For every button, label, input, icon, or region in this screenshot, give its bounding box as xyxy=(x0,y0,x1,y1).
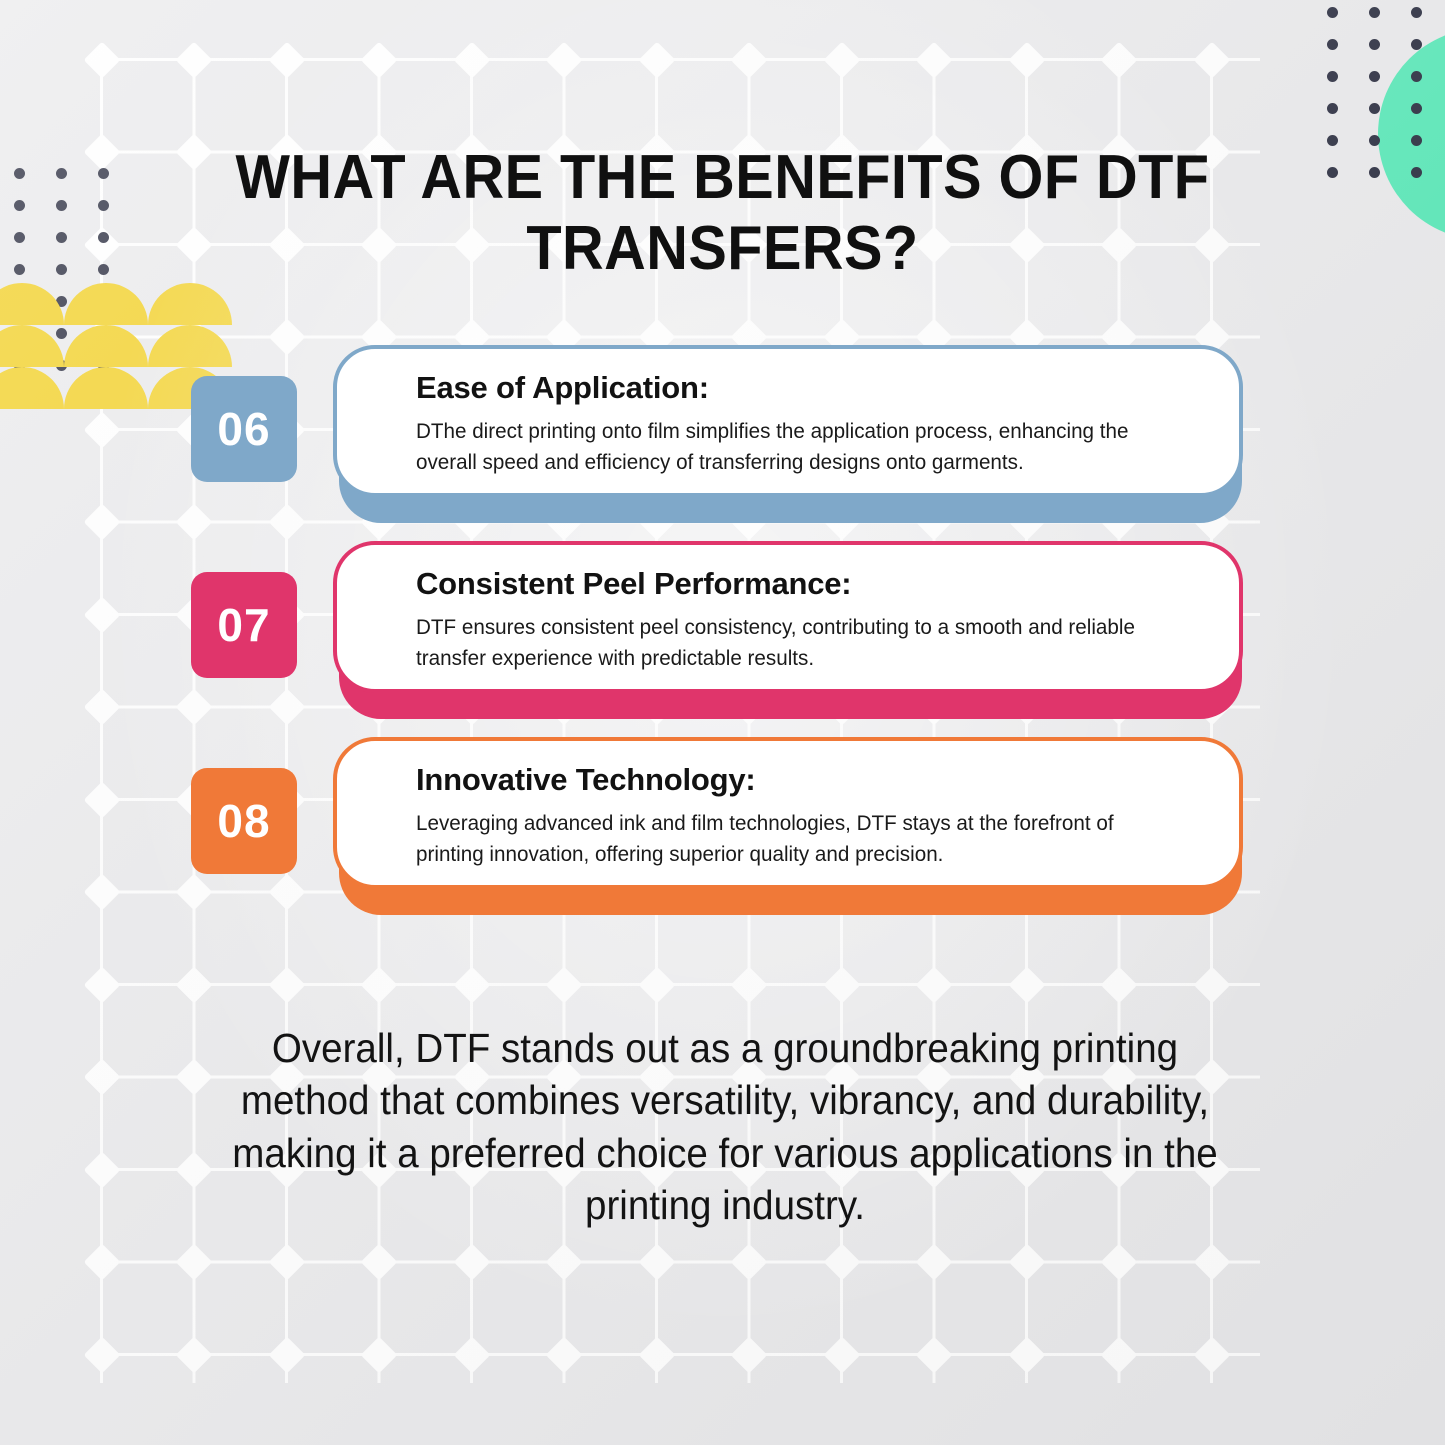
grid-diamond xyxy=(1101,1244,1138,1281)
grid-diamond xyxy=(361,966,398,1003)
summary-paragraph: Overall, DTF stands out as a groundbreak… xyxy=(203,1022,1246,1232)
decorative-dot xyxy=(56,264,67,275)
grid-diamond xyxy=(453,966,490,1003)
decorative-dot xyxy=(14,200,25,211)
grid-diamond xyxy=(1193,41,1230,78)
decorative-dot xyxy=(1327,7,1338,18)
grid-diamond xyxy=(916,1244,953,1281)
grid-diamond xyxy=(83,1151,120,1188)
grid-diamond xyxy=(83,966,120,1003)
grid-diamond xyxy=(638,41,675,78)
grid-diamond xyxy=(823,966,860,1003)
decorative-dot xyxy=(1327,167,1338,178)
grid-diamond xyxy=(176,966,213,1003)
grid-diamond xyxy=(546,966,583,1003)
grid-diamond xyxy=(823,1244,860,1281)
decorative-dot xyxy=(1327,103,1338,114)
decorative-dot xyxy=(98,200,109,211)
grid-diamond xyxy=(916,966,953,1003)
grid-diamond xyxy=(83,1336,120,1373)
grid-diamond xyxy=(453,1336,490,1373)
decorative-dot xyxy=(1327,135,1338,146)
decorative-dot xyxy=(56,232,67,243)
decorative-dot xyxy=(56,168,67,179)
grid-diamond xyxy=(731,1244,768,1281)
decorative-dot xyxy=(14,232,25,243)
decorative-arch xyxy=(64,283,148,325)
decorative-dot xyxy=(98,232,109,243)
grid-diamond xyxy=(1193,966,1230,1003)
page-title: WHAT ARE THE BENEFITS OF DTF TRANSFERS? xyxy=(190,142,1255,285)
grid-diamond xyxy=(83,41,120,78)
grid-diamond xyxy=(453,1244,490,1281)
decorative-dot xyxy=(1327,71,1338,82)
benefit-card: 08Innovative Technology:Leveraging advan… xyxy=(0,737,1445,933)
grid-diamond xyxy=(1101,1336,1138,1373)
card-content: Ease of Application:DThe direct printing… xyxy=(333,345,1243,497)
grid-diamond xyxy=(823,41,860,78)
benefit-card: 06Ease of Application:DThe direct printi… xyxy=(0,345,1445,541)
decorative-arch xyxy=(0,283,64,325)
decorative-dot xyxy=(1411,71,1422,82)
card-heading: Innovative Technology: xyxy=(416,763,1205,797)
card-panel: Ease of Application:DThe direct printing… xyxy=(333,345,1248,513)
benefit-card: 07Consistent Peel Performance:DTF ensure… xyxy=(0,541,1445,737)
card-body-text: Leveraging advanced ink and film technol… xyxy=(416,808,1173,869)
grid-diamond xyxy=(546,1336,583,1373)
card-content: Consistent Peel Performance:DTF ensures … xyxy=(333,541,1243,693)
decorative-dot xyxy=(1369,167,1380,178)
grid-diamond xyxy=(546,41,583,78)
decorative-dot xyxy=(56,200,67,211)
decorative-dot xyxy=(1369,7,1380,18)
grid-diamond xyxy=(361,1244,398,1281)
grid-diamond xyxy=(453,41,490,78)
grid-diamond xyxy=(1193,1336,1230,1373)
decorative-dot xyxy=(98,168,109,179)
grid-diamond xyxy=(1008,1336,1045,1373)
grid-diamond xyxy=(916,1336,953,1373)
grid-diamond xyxy=(176,1244,213,1281)
mint-circle xyxy=(1378,28,1445,240)
grid-diamond xyxy=(638,1336,675,1373)
decorative-dot xyxy=(98,264,109,275)
grid-diamond xyxy=(83,134,120,171)
grid-diamond xyxy=(1101,966,1138,1003)
grid-diamond xyxy=(1008,1244,1045,1281)
decorative-dot xyxy=(1369,39,1380,50)
grid-diamond xyxy=(361,1336,398,1373)
grid-diamond xyxy=(83,1059,120,1096)
grid-diamond xyxy=(731,966,768,1003)
decorative-dot xyxy=(56,328,67,339)
decorative-dot xyxy=(1411,103,1422,114)
grid-diamond xyxy=(1101,41,1138,78)
card-panel: Consistent Peel Performance:DTF ensures … xyxy=(333,541,1248,709)
grid-diamond xyxy=(176,41,213,78)
card-body-text: DTF ensures consistent peel consistency,… xyxy=(416,612,1173,673)
grid-diamond xyxy=(638,966,675,1003)
decorative-dot xyxy=(1411,135,1422,146)
decorative-dot xyxy=(1411,7,1422,18)
grid-diamond xyxy=(268,41,305,78)
grid-diamond xyxy=(1008,41,1045,78)
grid-diamond xyxy=(731,1336,768,1373)
grid-diamond xyxy=(1193,1244,1230,1281)
grid-diamond xyxy=(916,41,953,78)
card-heading: Ease of Application: xyxy=(416,371,1205,405)
card-heading: Consistent Peel Performance: xyxy=(416,567,1205,601)
benefit-card-list: 06Ease of Application:DThe direct printi… xyxy=(0,345,1445,933)
grid-diamond xyxy=(731,41,768,78)
decorative-dot xyxy=(1369,103,1380,114)
decorative-dot xyxy=(1327,39,1338,50)
grid-diamond xyxy=(268,966,305,1003)
decorative-dot xyxy=(1369,71,1380,82)
grid-diamond xyxy=(83,1244,120,1281)
grid-diamond xyxy=(268,1336,305,1373)
card-number-badge: 08 xyxy=(191,768,297,874)
grid-diamond xyxy=(1008,966,1045,1003)
decorative-arch xyxy=(148,283,232,325)
grid-diamond xyxy=(823,1336,860,1373)
decorative-dot xyxy=(14,168,25,179)
grid-diamond xyxy=(546,1244,583,1281)
decorative-dot xyxy=(1411,39,1422,50)
grid-diamond xyxy=(176,1336,213,1373)
decorative-dot xyxy=(14,264,25,275)
grid-diamond xyxy=(361,41,398,78)
decorative-dot xyxy=(1411,167,1422,178)
card-number-badge: 06 xyxy=(191,376,297,482)
card-content: Innovative Technology:Leveraging advance… xyxy=(333,737,1243,889)
grid-diamond xyxy=(268,1244,305,1281)
card-panel: Innovative Technology:Leveraging advance… xyxy=(333,737,1248,905)
infographic-page: WHAT ARE THE BENEFITS OF DTF TRANSFERS? … xyxy=(0,0,1445,1445)
decorative-dot xyxy=(1369,135,1380,146)
card-number-badge: 07 xyxy=(191,572,297,678)
card-body-text: DThe direct printing onto film simplifie… xyxy=(416,416,1173,477)
grid-diamond xyxy=(638,1244,675,1281)
